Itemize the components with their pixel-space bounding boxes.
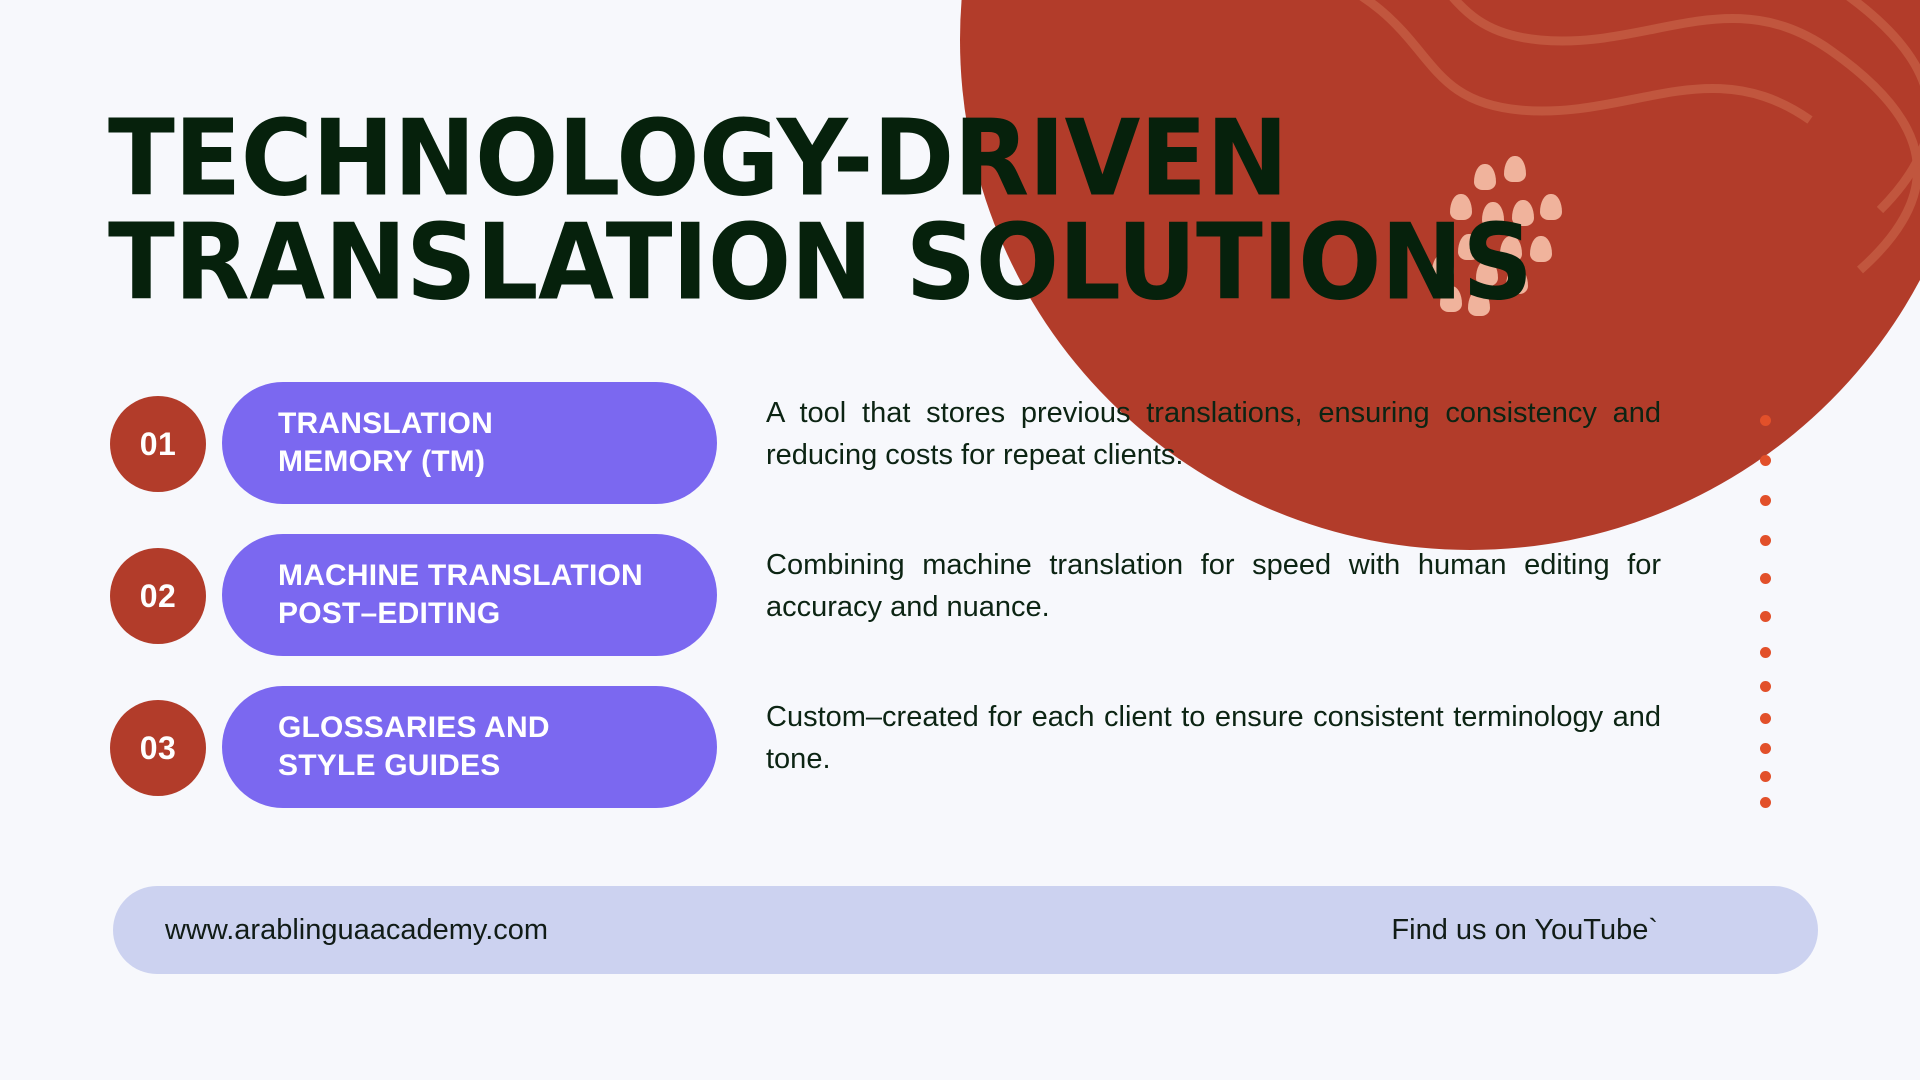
item-number-badge: 03 <box>110 700 206 796</box>
list-item: 01 TRANSLATION MEMORY (TM) A tool that s… <box>0 382 1920 506</box>
drop-icon <box>1530 236 1552 262</box>
item-number-badge: 02 <box>110 548 206 644</box>
item-label-pill[interactable]: TRANSLATION MEMORY (TM) <box>222 382 717 504</box>
youtube-cta[interactable]: Find us on YouTube` <box>1391 914 1658 947</box>
drop-icon <box>1540 194 1562 220</box>
items-list: 01 TRANSLATION MEMORY (TM) A tool that s… <box>0 382 1920 838</box>
page-title: TECHNOLOGY-DRIVEN TRANSLATION SOLUTIONS <box>108 108 1532 316</box>
item-number-badge: 01 <box>110 396 206 492</box>
item-description: Custom–created for each client to ensure… <box>766 696 1661 780</box>
item-label-pill[interactable]: GLOSSARIES AND STYLE GUIDES <box>222 686 717 808</box>
list-item: 02 MACHINE TRANSLATION POST–EDITING Comb… <box>0 534 1920 658</box>
item-description: Combining machine translation for speed … <box>766 544 1661 628</box>
website-url[interactable]: www.arablinguaacademy.com <box>165 914 548 947</box>
item-label-pill[interactable]: MACHINE TRANSLATION POST–EDITING <box>222 534 717 656</box>
footer-bar: www.arablinguaacademy.com Find us on You… <box>113 886 1818 974</box>
list-item: 03 GLOSSARIES AND STYLE GUIDES Custom–cr… <box>0 686 1920 810</box>
item-description: A tool that stores previous translations… <box>766 392 1661 476</box>
